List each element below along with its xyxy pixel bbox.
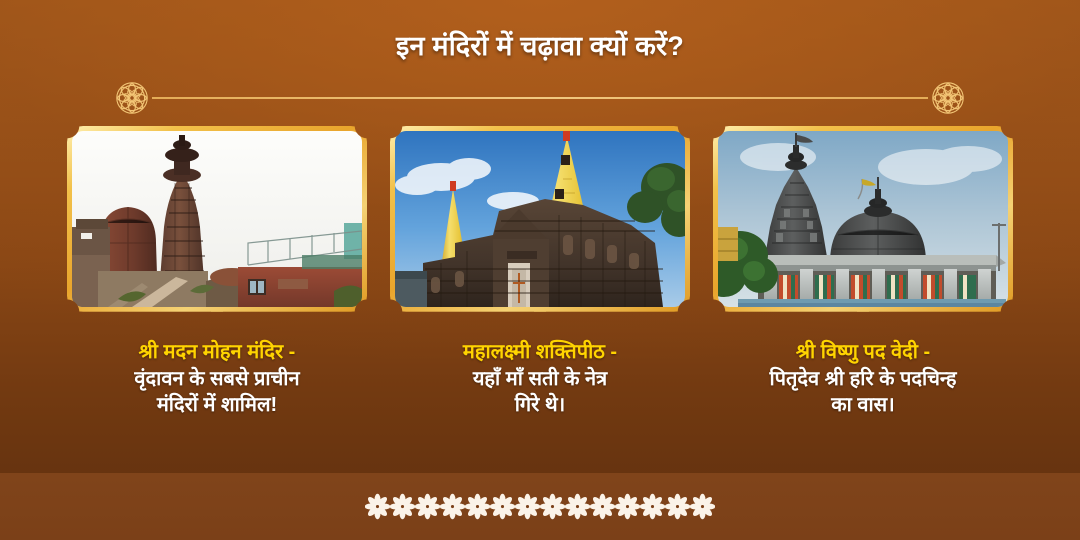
divider-line [152, 97, 928, 99]
shri-vishnu-pad-vedi-photo [718, 131, 1008, 307]
caption-heading-1: श्री मदन मोहन मंदिर - [67, 339, 367, 366]
flower-icon [640, 493, 665, 520]
caption-1: श्री मदन मोहन मंदिर - वृंदावन के सबसे प्… [67, 339, 367, 419]
flower-icon [490, 493, 515, 520]
flower-icon [415, 493, 440, 520]
caption-line-3-2: का वास। [713, 392, 1013, 419]
caption-3: श्री विष्णु पद वेदी - पितृदेव श्री हरि क… [713, 339, 1013, 419]
flower-icon [540, 493, 565, 520]
flower-icon [390, 493, 415, 520]
flower-icon [515, 493, 540, 520]
caption-line-1-1: वृंदावन के सबसे प्राचीन [67, 366, 367, 393]
flower-icon [565, 493, 590, 520]
flower-icon [665, 493, 690, 520]
footer-ornament-row [0, 473, 1080, 540]
flower-icon [440, 493, 465, 520]
photo-frame-1 [67, 126, 367, 312]
caption-line-2-1: यहाँ माँ सती के नेत्र [390, 366, 690, 393]
poster-canvas: इन मंदिरों में चढ़ावा क्यों करें? [0, 0, 1080, 540]
photo-frame-3 [713, 126, 1013, 312]
temple-card-2[interactable]: महालक्ष्मी शक्तिपीठ - यहाँ माँ सती के ने… [390, 126, 690, 419]
mahalakshmi-shaktipeeth-photo [395, 131, 685, 307]
flower-icon [615, 493, 640, 520]
flower-icon [690, 493, 715, 520]
temple-card-row: श्री मदन मोहन मंदिर - वृंदावन के सबसे प्… [0, 126, 1080, 419]
mandala-icon-left [112, 78, 152, 118]
title-area: इन मंदिरों में चढ़ावा क्यों करें? [0, 30, 1080, 62]
flower-icon [590, 493, 615, 520]
flower-icon [365, 493, 390, 520]
decorative-divider [112, 78, 968, 118]
photo-frame-2 [390, 126, 690, 312]
caption-2: महालक्ष्मी शक्तिपीठ - यहाँ माँ सती के ने… [390, 339, 690, 419]
caption-heading-3: श्री विष्णु पद वेदी - [713, 339, 1013, 366]
mandala-icon-right [928, 78, 968, 118]
caption-line-3-1: पितृदेव श्री हरि के पदचिन्ह [713, 366, 1013, 393]
caption-line-1-2: मंदिरों में शामिल! [67, 392, 367, 419]
caption-heading-2: महालक्ष्मी शक्तिपीठ - [390, 339, 690, 366]
flower-icon [465, 493, 490, 520]
shri-madan-mohan-mandir-photo [72, 131, 362, 307]
temple-card-3[interactable]: श्री विष्णु पद वेदी - पितृदेव श्री हरि क… [713, 126, 1013, 419]
caption-line-2-2: गिरे थे। [390, 392, 690, 419]
temple-card-1[interactable]: श्री मदन मोहन मंदिर - वृंदावन के सबसे प्… [67, 126, 367, 419]
page-title: इन मंदिरों में चढ़ावा क्यों करें? [0, 30, 1080, 62]
